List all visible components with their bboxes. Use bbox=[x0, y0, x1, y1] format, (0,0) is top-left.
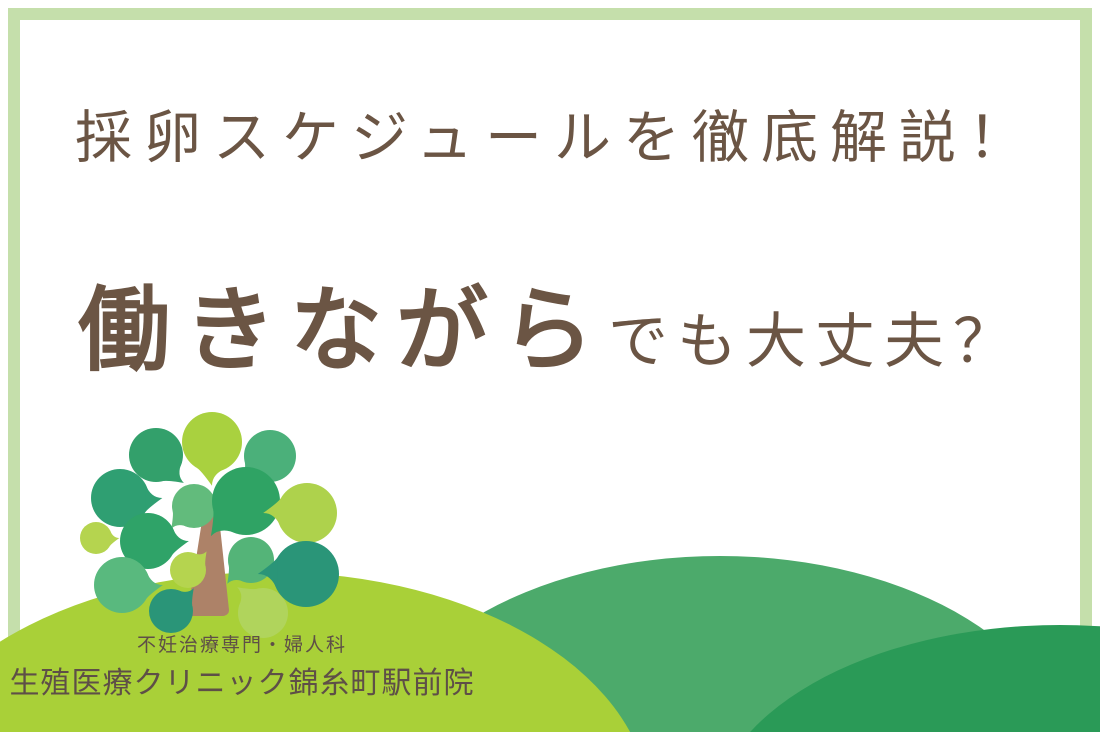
headline-question-text: でも大丈夫？ bbox=[608, 308, 1022, 375]
tree-logo bbox=[78, 398, 378, 638]
headline-line-2: 働きながらでも大丈夫？ bbox=[0, 256, 1100, 389]
clinic-specialty-label: 不妊治療専門・婦人科 bbox=[0, 636, 484, 657]
leaf-lower-small-icon bbox=[149, 588, 194, 633]
headline-emphasis-text: 働きながら bbox=[78, 280, 608, 382]
clinic-name-label: 生殖医療クリニック錦糸町駅前院 bbox=[0, 667, 484, 700]
tree-logo-svg bbox=[78, 398, 378, 638]
leaf-small-far-left-icon bbox=[80, 522, 119, 554]
poster-canvas: 採卵スケジュールを徹底解説！ 働きながらでも大丈夫？ 不妊治療専門・婦人科 生殖… bbox=[0, 0, 1100, 732]
leaf-mid-right-big-icon bbox=[211, 467, 280, 536]
leaf-upper-left-icon bbox=[129, 428, 184, 483]
leaf-center-low-icon bbox=[227, 537, 274, 584]
leaf-lower-right-icon bbox=[237, 587, 288, 638]
headline-line-1: 採卵スケジュールを徹底解説！ bbox=[0, 92, 1100, 174]
clinic-identity-block: 不妊治療専門・婦人科 生殖医療クリニック錦糸町駅前院 bbox=[0, 636, 484, 700]
